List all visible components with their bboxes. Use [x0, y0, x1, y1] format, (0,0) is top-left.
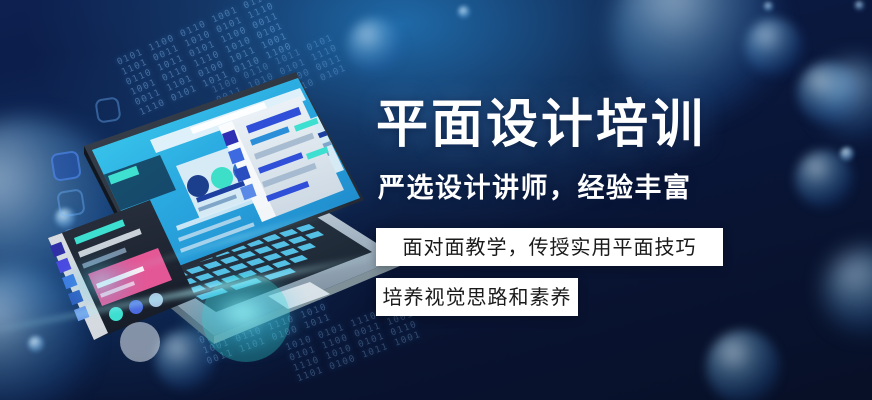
deco-square: [56, 188, 86, 218]
background-bubble: [155, 330, 215, 390]
background-bubble: [795, 150, 853, 208]
background-bubble: [855, 1, 864, 10]
feature-pill-1: 面对面教学，传授实用平面技巧: [376, 228, 723, 266]
lens-flare: [62, 252, 142, 312]
background-bubble: [824, 248, 872, 334]
banner-subtitle: 严选设计讲师，经验丰富: [378, 172, 692, 206]
background-bubble: [0, 118, 130, 326]
deco-square: [50, 150, 82, 182]
background-bubble: [818, 60, 872, 138]
laptop-illustration: [0, 0, 420, 400]
lens-flare: [178, 268, 308, 358]
light-streak: [101, 204, 352, 279]
page-title: 平面设计培训: [376, 96, 706, 154]
binary-stream: 0101 1100 0110 1001 1101 0011 1010 0101 …: [191, 271, 333, 368]
background-bubble: [840, 147, 854, 161]
background-bubble: [0, 268, 90, 400]
background-bubble: [797, 62, 859, 124]
binary-stream: 0101 1100 0110 1001 0111 1101 0011 1010 …: [116, 0, 295, 119]
deco-square: [62, 226, 92, 256]
promo-banner: 0101 1100 0110 1001 0111 1101 0011 1010 …: [0, 0, 872, 400]
light-streak: [0, 252, 387, 337]
banner-copy: 平面设计培训 严选设计讲师，经验丰富 面对面教学，传授实用平面技巧 培养视觉思路…: [376, 0, 776, 400]
binary-stream: 1100 0110 1011 0101 0011 1010 0101 1110 …: [211, 33, 349, 127]
deco-square: [68, 264, 98, 294]
feature-pill-2: 培养视觉思路和素养: [376, 278, 578, 316]
background-bubble: [28, 336, 44, 352]
background-bubble: [55, 208, 75, 228]
deco-square: [94, 96, 121, 123]
